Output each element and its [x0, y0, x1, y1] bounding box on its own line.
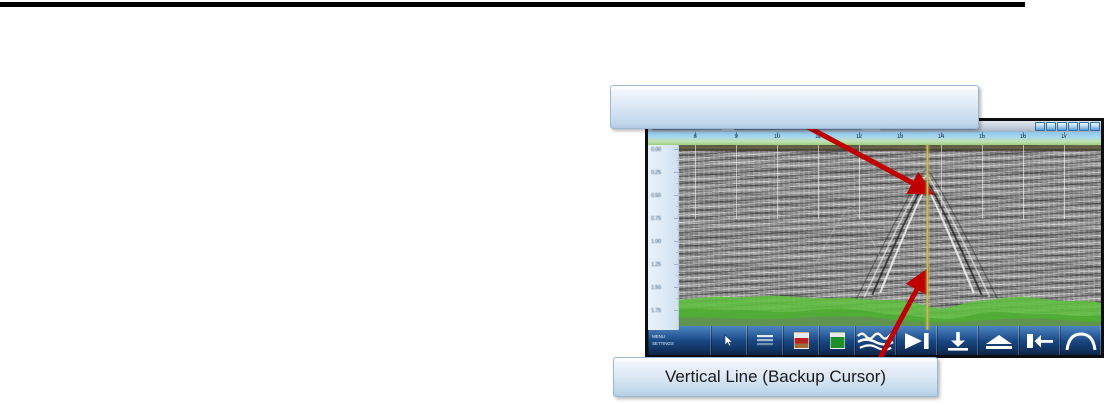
- status-bar-buttons[interactable]: [1028, 121, 1100, 132]
- depth-tick-label: 0.50: [651, 193, 661, 199]
- trace-marker: [818, 145, 819, 219]
- trace-marker: [1023, 145, 1024, 219]
- toolbar-color-swatch-green[interactable]: [819, 326, 855, 355]
- wave-filter-icon: [856, 330, 895, 352]
- toolbar-color-swatch-red[interactable]: [783, 326, 819, 355]
- toolbar-info-panel: MENU SETTINGS: [648, 326, 711, 355]
- callout-bottom[interactable]: Vertical Line (Backup Cursor): [613, 357, 938, 397]
- ruler-tick-label: 9: [734, 134, 737, 140]
- reflector-band: [678, 257, 1101, 269]
- interpreted-green-layer: [678, 284, 1101, 330]
- direct-wave-reflector: [678, 145, 1101, 151]
- toolbar-button-icon[interactable]: [1090, 122, 1100, 131]
- filter-wave-button[interactable]: [855, 326, 896, 355]
- toolbar-button-icon[interactable]: [1035, 122, 1045, 131]
- callout-top[interactable]: [610, 85, 979, 129]
- toolbar-info-line-2: SETTINGS: [652, 341, 674, 348]
- ruler-tick-label: 11: [815, 134, 821, 140]
- toolbar-gain-button[interactable]: [747, 326, 783, 355]
- depth-tick-label: 1.25: [651, 262, 661, 268]
- depth-tick-label: 0.25: [651, 170, 661, 176]
- ruler-tick-label: 12: [856, 134, 862, 140]
- top-divider-rule: [0, 2, 1025, 7]
- up-triangle-over-bar-icon: [981, 331, 1017, 351]
- bar-with-left-arrow-icon: [1023, 331, 1057, 351]
- play-to-end-button[interactable]: [896, 326, 937, 355]
- reflector-band: [678, 223, 1101, 236]
- trace-marker: [982, 145, 983, 219]
- trace-marker: [1064, 145, 1065, 219]
- ruler-tick-label: 8: [693, 134, 696, 140]
- trace-marker: [736, 145, 737, 219]
- pointer-icon: [722, 334, 736, 348]
- radargram-image[interactable]: 0.00 0.25 0.50 0.75 1.00 1.25 1.50 1.75: [648, 145, 1101, 330]
- color-swatch-green[interactable]: [830, 332, 845, 349]
- ruler-tick-label: 15: [979, 134, 985, 140]
- trace-marker: [941, 145, 942, 219]
- depth-axis: 0.00 0.25 0.50 0.75 1.00 1.25 1.50 1.75: [648, 145, 679, 330]
- gain-bars-icon: [755, 333, 775, 349]
- depth-tick-label: 1.00: [651, 239, 661, 245]
- reflector-band: [678, 189, 1101, 200]
- toolbar-button-icon[interactable]: [1046, 122, 1056, 131]
- move-left-button[interactable]: [1019, 326, 1060, 355]
- color-swatch-red[interactable]: [794, 332, 809, 349]
- gpr-bottom-toolbar[interactable]: MENU SETTINGS: [648, 326, 1101, 355]
- trace-marker: [777, 145, 778, 219]
- depth-tick-label: 0.00: [651, 147, 661, 153]
- eject-layer-button[interactable]: [978, 326, 1019, 355]
- ruler-tick-label: 10: [774, 134, 780, 140]
- distance-ruler: 8 9 10 11 12 13 14 15 16 17: [648, 132, 1101, 145]
- gpr-display-window[interactable]: 8 9 10 11 12 13 14 15 16 17: [645, 118, 1104, 358]
- callout-bottom-label: Vertical Line (Backup Cursor): [665, 367, 886, 387]
- trace-marker: [859, 145, 860, 219]
- down-arrow-to-bar-icon: [943, 330, 973, 352]
- depth-tick-label: 1.50: [651, 285, 661, 291]
- ruler-tick-label: 13: [897, 134, 903, 140]
- depth-tick-label: 0.75: [651, 216, 661, 222]
- vertical-backup-cursor[interactable]: [926, 145, 929, 330]
- arc-hyperbola-icon: [1064, 331, 1098, 351]
- set-depth-button[interactable]: [937, 326, 978, 355]
- toolbar-button-icon[interactable]: [1057, 122, 1067, 131]
- reflector-band: [678, 163, 1101, 172]
- toolbar-cursor-button[interactable]: [711, 326, 747, 355]
- hyperbola-fit-button[interactable]: [1060, 326, 1101, 355]
- play-to-end-icon: [900, 331, 934, 351]
- toolbar-button-icon[interactable]: [1079, 122, 1089, 131]
- depth-tick-label: 1.75: [651, 308, 661, 314]
- ruler-tick-label: 14: [938, 134, 944, 140]
- toolbar-button-icon[interactable]: [1068, 122, 1078, 131]
- trace-marker: [695, 145, 696, 219]
- ruler-tick-label: 16: [1020, 134, 1026, 140]
- toolbar-info-line-1: MENU: [652, 334, 665, 341]
- ruler-tick-label: 17: [1061, 134, 1067, 140]
